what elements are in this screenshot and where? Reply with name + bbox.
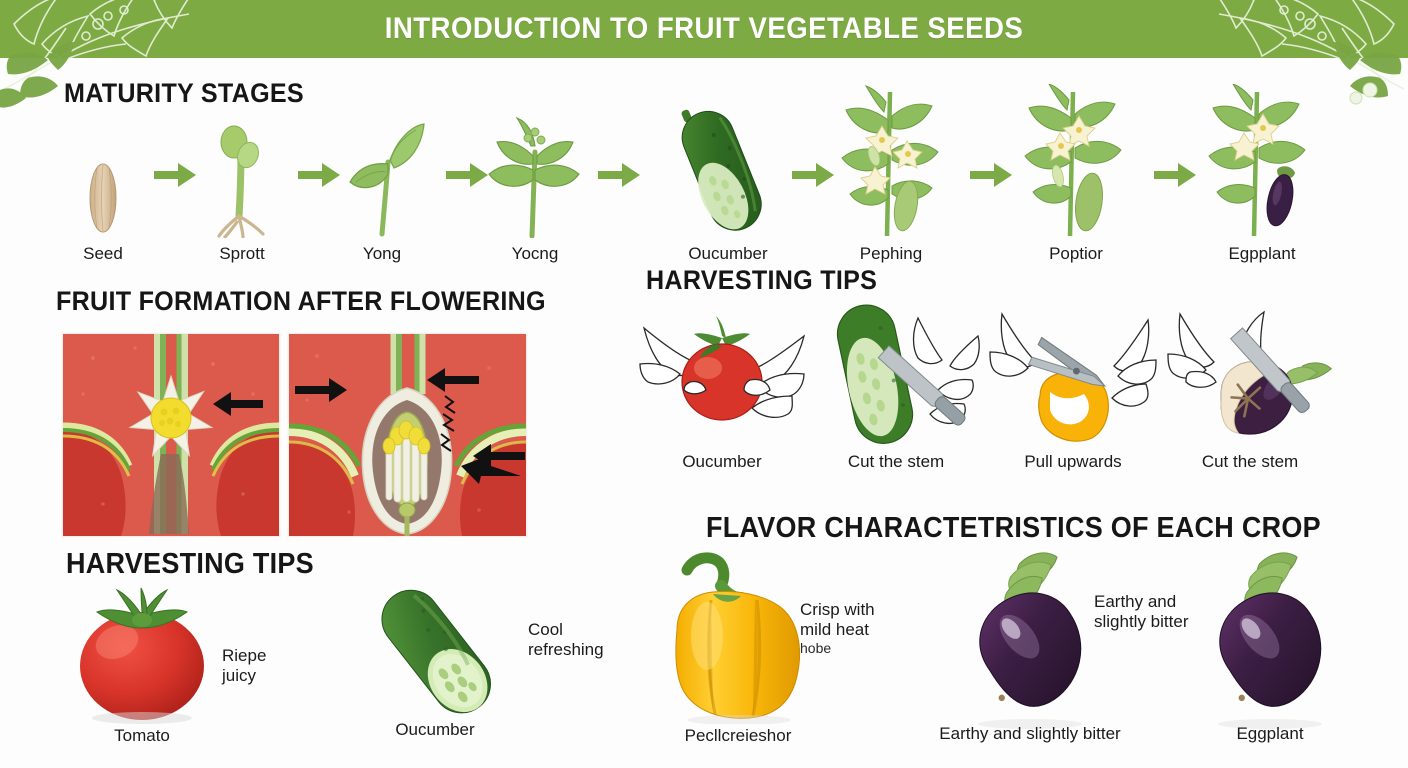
cucumber-note: Cool refreshing — [528, 620, 604, 660]
stage-sprout: Sprott — [182, 108, 302, 264]
maturity-stages-heading: MATURITY STAGES — [64, 78, 304, 109]
flowering-plant-icon — [826, 84, 956, 238]
stage-label: Poptior — [1010, 244, 1142, 264]
flavor-item-eggplant-2: Eggplant — [1170, 548, 1370, 744]
harvest-item-cucumber: Oucumber — [638, 308, 806, 472]
harvest-item-label: Pull upwards — [988, 452, 1158, 472]
harvest-item-label: Oucumber — [638, 452, 806, 472]
cucumber-icon — [648, 92, 808, 238]
flavor-item-cucumber: Oucumber — [330, 578, 540, 740]
flavor-item-label: Pecllcreieshor — [648, 726, 828, 746]
eggplant-plant-icon — [1196, 84, 1328, 238]
flavor-item-label: Tomato — [52, 726, 232, 746]
harvesting-tips-right-heading: HARVESTING TIPS — [646, 265, 877, 296]
harvest-item-label: Cut the stem — [1164, 452, 1336, 472]
eggplant-icon — [1170, 548, 1370, 730]
stage-fruiting-plant: Poptior — [1010, 84, 1142, 264]
fruiting-plant-icon — [1010, 84, 1142, 238]
flavor-item-tomato: Tomato — [52, 586, 232, 746]
sprout-icon — [182, 108, 302, 238]
stage-label: Oucumber — [648, 244, 808, 264]
right-arrow-icon — [1152, 160, 1198, 195]
ovary-cross-section-panel — [288, 333, 527, 537]
stage-label: Sprott — [182, 244, 302, 264]
stage-eggplant-plant: Egpplant — [1196, 84, 1328, 264]
young-plant-icon — [470, 108, 600, 238]
header-bar: INTRODUCTION TO FRUIT VEGETABLE SEEDS — [0, 0, 1408, 58]
page-title: INTRODUCTION TO FRUIT VEGETABLE SEEDS — [56, 0, 1351, 58]
stage-label: Yocng — [470, 244, 600, 264]
right-arrow-icon — [968, 160, 1014, 195]
scissors-cutting-pepper-icon — [988, 300, 1158, 448]
knife-cutting-cucumber-icon — [812, 300, 980, 448]
infographic-page: INTRODUCTION TO FRUIT VEGETABLE SEEDS — [0, 0, 1408, 768]
harvest-item-cut-stem-cucumber: Cut the stem — [812, 300, 980, 472]
stage-seedling: Yong — [322, 108, 442, 264]
stage-young-plant: Yocng — [470, 108, 600, 264]
stage-label: Egpplant — [1196, 244, 1328, 264]
flavor-characteristics-heading: FLAVOR CHARACTETRISTICS OF EACH CROP — [706, 512, 1321, 545]
seedling-icon — [322, 108, 442, 238]
tomato-icon — [52, 586, 232, 724]
stage-seed: Seed — [42, 108, 164, 264]
harvest-item-label: Cut the stem — [812, 452, 980, 472]
stage-label: Pephing — [826, 244, 956, 264]
harvesting-tips-bottom-heading: HARVESTING TIPS — [66, 548, 314, 581]
seed-icon — [42, 108, 164, 238]
flavor-item-eggplant-1: Earthy and slightly bitter — [930, 548, 1130, 744]
tomato-note: Riepe juicy — [222, 646, 266, 686]
eggplant-icon — [930, 548, 1130, 730]
harvest-item-pull-upwards: Pull upwards — [988, 300, 1158, 472]
stage-label: Seed — [42, 244, 164, 264]
hands-picking-tomato-icon — [638, 308, 806, 448]
pepper-subnote: hobe — [800, 640, 831, 657]
harvest-item-cut-stem-eggplant: Cut the stem — [1164, 300, 1336, 472]
pepper-note: Crisp with mild heat — [800, 600, 875, 640]
flavor-item-label: Earthy and slightly bitter — [930, 724, 1130, 744]
stage-label: Yong — [322, 244, 442, 264]
knife-cutting-eggplant-icon — [1164, 300, 1336, 448]
stage-flowering-plant: Pephing — [826, 84, 956, 264]
fruit-formation-heading: FRUIT FORMATION AFTER FLOWERING — [56, 286, 546, 317]
cucumber-sliced-icon — [330, 578, 540, 726]
right-arrow-icon — [596, 160, 642, 195]
stage-cucumber: Oucumber — [648, 92, 808, 264]
flower-cross-section-panel — [62, 333, 280, 537]
